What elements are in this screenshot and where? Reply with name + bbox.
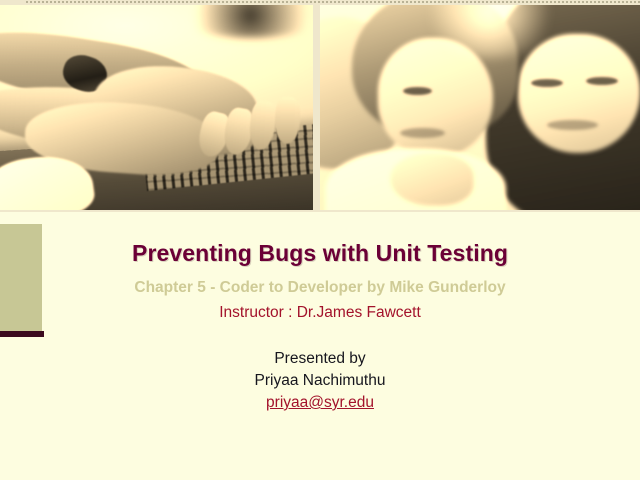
slide-subtitle: Chapter 5 - Coder to Developer by Mike G… (0, 279, 640, 297)
presented-by-label: Presented by (0, 348, 640, 370)
right-photo-two-people (320, 5, 640, 210)
presentation-slide: Preventing Bugs with Unit Testing Chapte… (0, 0, 640, 480)
accent-maroon-bar (0, 331, 44, 337)
slide-title: Preventing Bugs with Unit Testing (0, 240, 640, 267)
left-photo-hands-typing (0, 5, 313, 210)
presenter-block: Presented by Priyaa Nachimuthu priyaa@sy… (0, 348, 640, 414)
presenter-name: Priyaa Nachimuthu (0, 370, 640, 392)
photo-band (0, 0, 640, 212)
presenter-email-link[interactable]: priyaa@syr.edu (266, 392, 374, 414)
instructor-line: Instructor : Dr.James Fawcett (0, 304, 640, 322)
dotted-top-border (26, 1, 640, 3)
